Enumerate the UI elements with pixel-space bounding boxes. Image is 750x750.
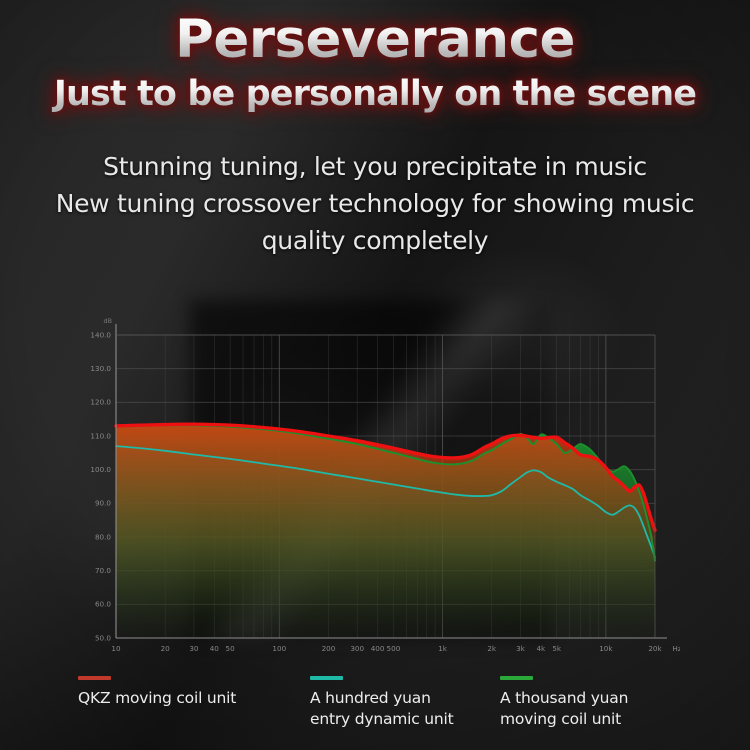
- chart-legend: QKZ moving coil unit A hundred yuan entr…: [60, 676, 700, 740]
- frequency-response-chart: 50.060.070.080.090.0100.0110.0120.0130.0…: [80, 316, 680, 661]
- svg-text:60.0: 60.0: [95, 600, 111, 609]
- page-title: Perseverance: [0, 12, 750, 68]
- svg-text:50: 50: [226, 644, 236, 653]
- svg-text:10: 10: [111, 644, 121, 653]
- heading-block: Perseverance Just to be personally on th…: [0, 0, 750, 114]
- svg-text:130.0: 130.0: [90, 364, 111, 373]
- svg-text:2k: 2k: [487, 644, 497, 653]
- svg-text:dB: dB: [104, 317, 112, 325]
- svg-text:20k: 20k: [648, 644, 662, 653]
- legend-label-thousand-yuan: A thousand yuan moving coil unit: [500, 689, 628, 728]
- svg-text:200: 200: [322, 644, 336, 653]
- legend-swatch-green: [500, 676, 533, 680]
- legend-item-qkz: QKZ moving coil unit: [78, 676, 310, 740]
- legend-swatch-red: [78, 676, 111, 680]
- svg-text:20: 20: [161, 644, 171, 653]
- svg-text:100.0: 100.0: [90, 465, 111, 474]
- legend-label-hundred-yuan: A hundred yuan entry dynamic unit: [310, 689, 454, 728]
- chart-canvas: 50.060.070.080.090.0100.0110.0120.0130.0…: [80, 316, 680, 661]
- legend-swatch-teal: [310, 676, 343, 680]
- svg-text:Hz: Hz: [672, 644, 680, 653]
- svg-text:140.0: 140.0: [90, 330, 111, 339]
- svg-text:500: 500: [387, 644, 401, 653]
- svg-text:80.0: 80.0: [95, 532, 111, 541]
- svg-text:4k: 4k: [536, 644, 546, 653]
- lede-line-2: New tuning crossover technology for show…: [0, 185, 750, 222]
- svg-text:5k: 5k: [552, 644, 562, 653]
- svg-text:3k: 3k: [516, 644, 526, 653]
- series-area-fills: [116, 424, 655, 638]
- promo-page: Perseverance Just to be personally on th…: [0, 0, 750, 750]
- lede-text: Stunning tuning, let you precipitate in …: [0, 148, 750, 259]
- lede-line-3: quality completely: [0, 222, 750, 259]
- svg-text:100: 100: [272, 644, 286, 653]
- svg-text:90.0: 90.0: [95, 499, 111, 508]
- svg-text:40: 40: [210, 644, 220, 653]
- svg-text:50.0: 50.0: [95, 633, 111, 642]
- svg-text:1k: 1k: [438, 644, 448, 653]
- svg-text:300: 300: [350, 644, 364, 653]
- svg-text:110.0: 110.0: [90, 431, 111, 440]
- svg-text:70.0: 70.0: [95, 566, 111, 575]
- legend-label-qkz: QKZ moving coil unit: [78, 689, 236, 707]
- svg-text:10k: 10k: [599, 644, 613, 653]
- svg-text:30: 30: [189, 644, 199, 653]
- page-subtitle: Just to be personally on the scene: [0, 74, 750, 114]
- legend-item-thousand-yuan: A thousand yuan moving coil unit: [500, 676, 700, 740]
- lede-line-1: Stunning tuning, let you precipitate in …: [0, 148, 750, 185]
- svg-text:400: 400: [371, 644, 385, 653]
- legend-item-hundred-yuan: A hundred yuan entry dynamic unit: [310, 676, 500, 740]
- svg-text:120.0: 120.0: [90, 398, 111, 407]
